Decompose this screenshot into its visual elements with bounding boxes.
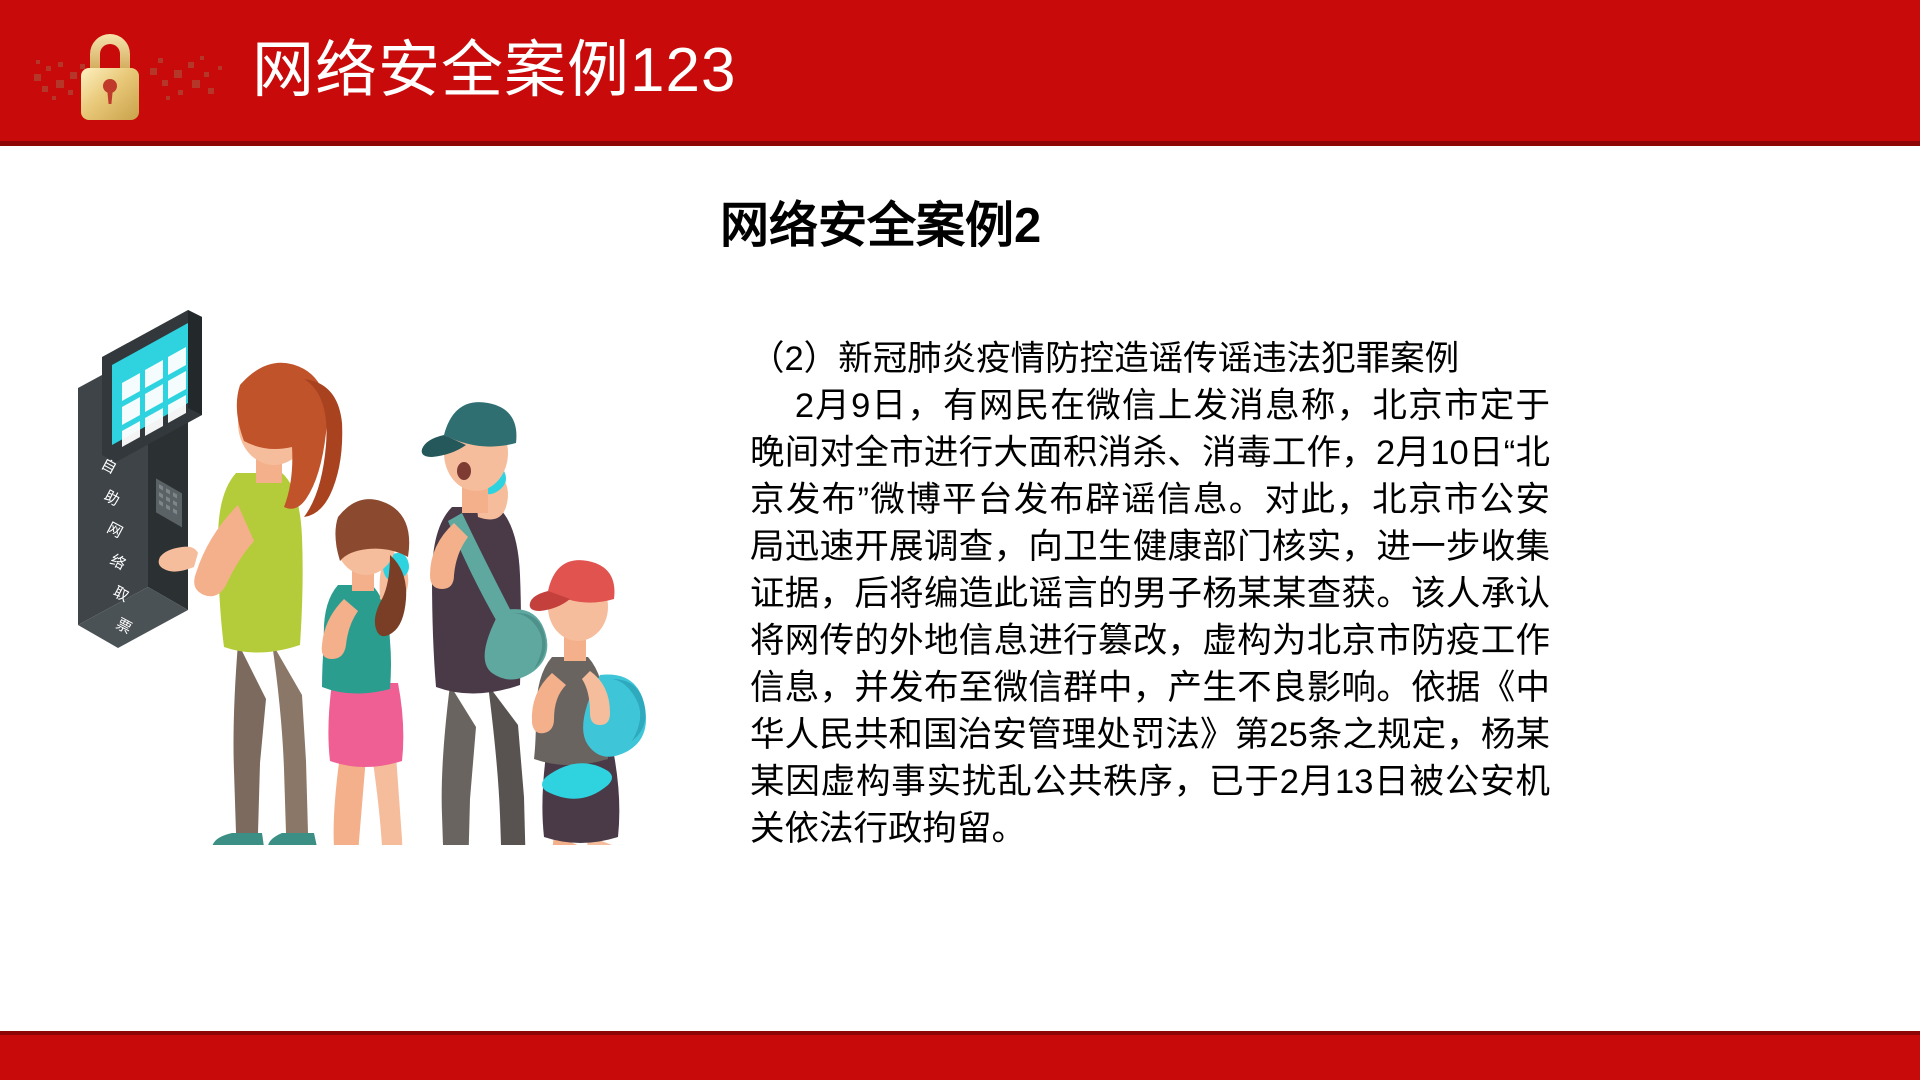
figure-boy-with-tablet [528, 560, 646, 845]
self-service-ticket-kiosk-illustration: 自 助 网 络 取 票 [60, 255, 700, 845]
figure-woman-on-phone [314, 499, 415, 845]
padlock-icon [28, 18, 228, 126]
body-text-block: （2）新冠肺炎疫情防控造谣传谣违法犯罪案例 2月9日，有网民在微信上发消息称，北… [750, 336, 1550, 853]
header-bar: 网络安全案例123 [0, 0, 1920, 144]
footer-bar [0, 1032, 1920, 1080]
slide-root: 网络安全案例123 网络安全案例2 （2）新冠肺炎疫情防控造谣传谣违法犯罪案例 … [0, 0, 1920, 1080]
kiosk: 自 助 网 络 取 票 [78, 310, 202, 648]
header-accent-line [0, 141, 1920, 146]
header-title: 网络安全案例123 [252, 30, 736, 112]
body-paragraph-1: （2）新冠肺炎疫情防控造谣传谣违法犯罪案例 [750, 336, 1550, 383]
footer-accent-line [0, 1031, 1920, 1035]
page-title: 网络安全案例2 [720, 196, 1041, 256]
figure-man-with-cap [422, 402, 548, 845]
body-paragraph-2: 2月9日，有网民在微信上发消息称，北京市定于晚间对全市进行大面积消杀、消毒工作，… [750, 383, 1550, 853]
